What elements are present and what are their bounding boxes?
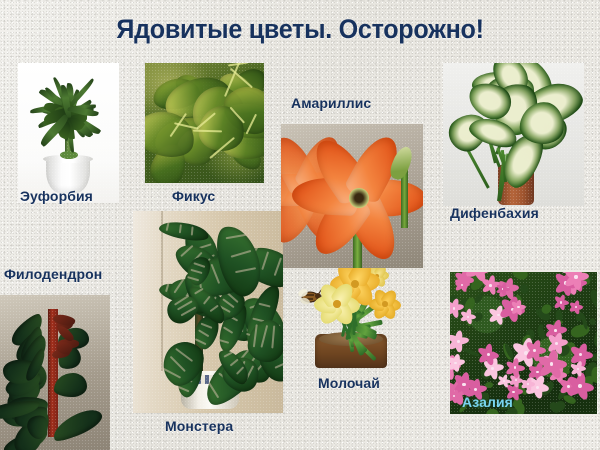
plant-label-monstera: Монстера [165,418,233,434]
plant-label-ficus: Фикус [172,188,215,204]
plant-image-philodendron [0,295,110,450]
plant-image-azalea [450,272,597,414]
plant-image-monstera [133,211,283,413]
plant-image-dieffenbachia [443,63,584,206]
plant-label-azalea: Азалия [462,394,513,410]
slide-canvas: Ядовитые цветы. Осторожно! Эуфорбия Фику… [0,0,600,450]
plant-image-euphorbia [18,63,119,203]
plant-label-amaryllis: Амариллис [291,95,371,111]
plant-label-molochai: Молочай [318,375,380,391]
plant-label-dieffenbachia: Дифенбахия [450,205,539,221]
plant-image-ficus [145,63,264,183]
plant-image-amaryllis [281,124,423,268]
page-title: Ядовитые цветы. Осторожно! [21,14,579,45]
plant-label-euphorbia: Эуфорбия [20,188,93,204]
plant-label-philodendron: Филодендрон [4,266,102,282]
plant-image-molochai [293,268,405,372]
